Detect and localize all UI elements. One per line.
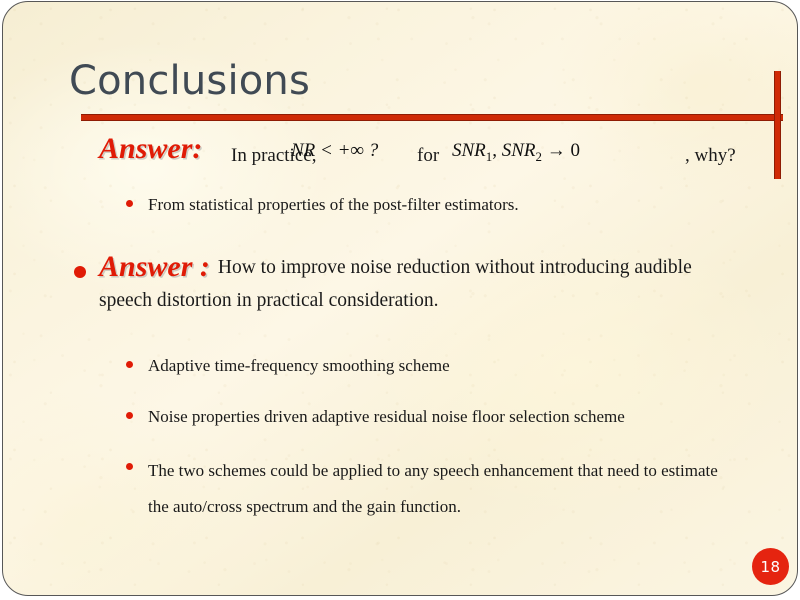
snr-2-symbol: SNR2 — [502, 140, 542, 161]
bullet-marker-level2 — [126, 200, 133, 207]
snr-math-expression: SNR1, SNR2 → 0 — [452, 140, 580, 165]
sub-bullet-label: Adaptive time-frequency smoothing scheme — [148, 356, 450, 375]
sub-bullet-label: Noise properties driven adaptive residua… — [148, 407, 625, 426]
answer-label-2: Answer : — [99, 251, 210, 283]
bullet-marker-level2 — [126, 361, 133, 368]
sub-bullet-label: The two schemes could be applied to any … — [148, 461, 718, 516]
snr-1-base: SNR — [452, 140, 486, 161]
page-number-badge: 18 — [752, 548, 789, 585]
snr-separator: , — [492, 140, 497, 161]
title-underline-rule — [81, 114, 783, 121]
bullet-marker-level1 — [74, 266, 86, 278]
slide-canvas: Conclusions Answer: In practice, NR < +∞… — [2, 1, 798, 596]
sub-bullet-two-schemes-application: The two schemes could be applied to any … — [3, 453, 798, 525]
slide-body: Answer: In practice, NR < +∞ ? for SNR1,… — [3, 130, 798, 525]
for-keyword: for — [417, 141, 439, 171]
snr-2-base: SNR — [502, 140, 536, 161]
page-title: Conclusions — [69, 58, 310, 104]
bullet-row-answer-2: Answer : How to improve noise reduction … — [3, 251, 798, 317]
snr-2-subscript: 2 — [536, 149, 542, 164]
sub-bullet-noise-floor-selection: Noise properties driven adaptive residua… — [3, 402, 798, 431]
bullet-marker-level2 — [126, 463, 133, 470]
answer-label-1: Answer: — [99, 132, 202, 166]
sub-bullet-label: From statistical properties of the post-… — [148, 195, 519, 214]
nr-symbol: NR < +∞ ? — [291, 140, 378, 161]
why-trailing-text: , why? — [685, 141, 736, 171]
nr-math-expression: NR < +∞ ? — [291, 140, 378, 162]
snr-1-symbol: SNR1 — [452, 140, 492, 161]
snr-limit-arrow: → 0 — [547, 140, 580, 161]
sub-bullet-statistical-properties: From statistical properties of the post-… — [3, 190, 798, 219]
bullet-marker-level2 — [126, 412, 133, 419]
sub-bullet-adaptive-smoothing: Adaptive time-frequency smoothing scheme — [3, 351, 798, 380]
bullet-row-answer-1: Answer: In practice, NR < +∞ ? for SNR1,… — [3, 130, 798, 174]
